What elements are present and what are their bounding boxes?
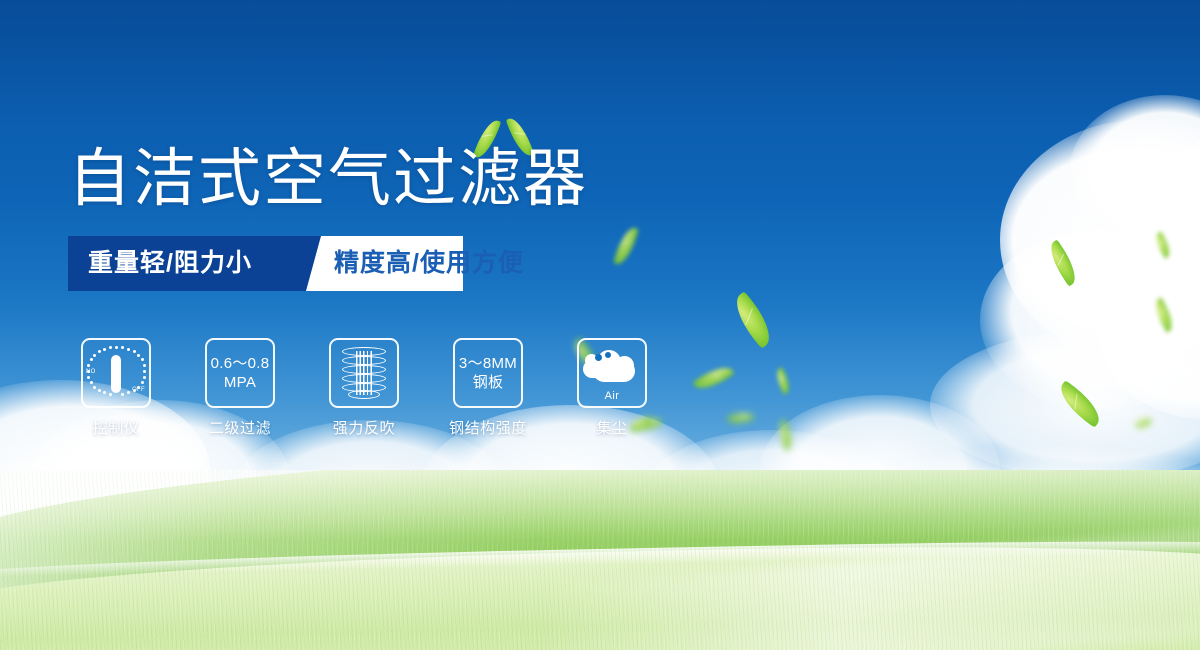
- leaf-float-10: [1151, 297, 1178, 333]
- leaf-float-3: [693, 361, 735, 395]
- subtitle-right-text: 精度高/使用方便: [334, 236, 524, 291]
- subtitle-bar: 重量轻/阻力小 精度高/使用方便: [68, 236, 463, 291]
- filter-cartridge-box: [329, 338, 399, 408]
- pressure-value-icon: 0.6～0.8 MPA: [211, 354, 270, 392]
- steel-plate-box: 3～8MM 钢板: [453, 338, 523, 408]
- leaf-float-12: [1136, 417, 1152, 428]
- pressure-line-2: MPA: [211, 373, 270, 392]
- feature-item-pressure[interactable]: 0.6～0.8 MPA 二级过滤: [194, 338, 286, 438]
- cloud-notch-2: [605, 352, 611, 358]
- air-cloud-icon: Air: [583, 348, 641, 398]
- page-title: 自洁式空气过滤器: [68, 141, 588, 217]
- feature-item-dust[interactable]: Air 集尘: [566, 338, 658, 438]
- feature-label-blowback: 强力反吹: [318, 417, 410, 438]
- dial-off-label: OFF: [132, 387, 145, 393]
- dial-on-label: NO: [86, 369, 96, 375]
- cloud-main-puff-2: [615, 356, 634, 375]
- leaf-float-2: [727, 291, 779, 349]
- filter-cartridge-icon: [339, 347, 389, 399]
- air-cloud-box: Air: [577, 338, 647, 408]
- dial-pointer: [111, 355, 121, 393]
- feature-item-control[interactable]: NO OFF 控制仪: [70, 338, 162, 438]
- leaf-float-11: [1053, 380, 1106, 428]
- feature-label-dust: 集尘: [566, 417, 658, 438]
- leaf-float-8: [1044, 239, 1082, 286]
- leaf-layer: [0, 0, 1200, 650]
- leaf-float-6: [775, 419, 796, 451]
- steel-line-1: 3～8MM: [459, 354, 517, 373]
- air-label: Air: [583, 390, 641, 402]
- steel-line-2: 钢板: [459, 373, 517, 392]
- cloud-notch-1: [595, 354, 602, 361]
- feature-item-steel[interactable]: 3～8MM 钢板 钢结构强度: [442, 338, 534, 438]
- leaf-float-4: [773, 367, 793, 395]
- leaf-float-9: [1152, 231, 1174, 259]
- feature-label-control: 控制仪: [70, 417, 162, 438]
- feature-label-pressure: 二级过滤: [194, 417, 286, 438]
- steel-plate-icon: 3～8MM 钢板: [459, 354, 517, 392]
- subtitle-left-text: 重量轻/阻力小: [88, 236, 252, 291]
- leaf-float-1: [613, 225, 639, 267]
- control-dial-box: NO OFF: [81, 338, 151, 408]
- leaf-float-5: [726, 409, 754, 427]
- pressure-value-box: 0.6～0.8 MPA: [205, 338, 275, 408]
- feature-label-steel: 钢结构强度: [442, 417, 534, 438]
- feature-item-blowback[interactable]: 强力反吹: [318, 338, 410, 438]
- control-dial-icon: NO OFF: [85, 342, 147, 404]
- banner-stage: 自洁式空气过滤器 重量轻/阻力小 精度高/使用方便: [0, 0, 1200, 650]
- pressure-line-1: 0.6～0.8: [211, 354, 270, 373]
